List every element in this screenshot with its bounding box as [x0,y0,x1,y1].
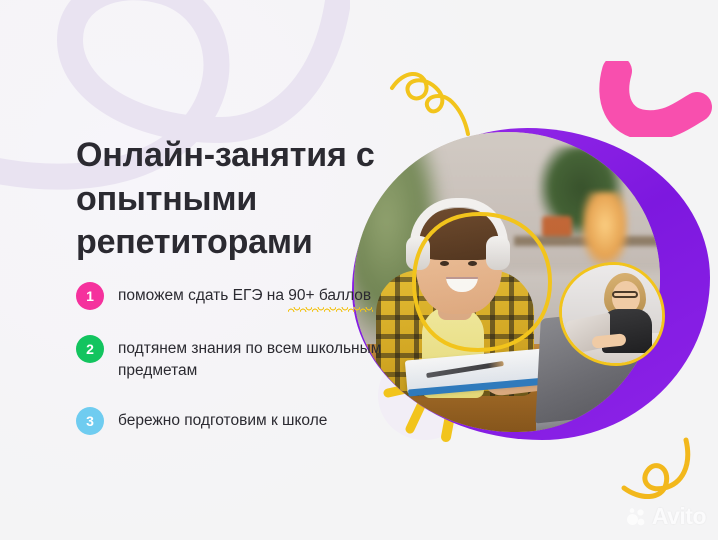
pink-crescent-decoration [597,61,713,137]
feature-text-2: подтянем знания по всем школьным предмет… [118,335,386,382]
page-title: Онлайн-занятия с опытными репетиторами [76,134,376,265]
list-item: 2 подтянем знания по всем школьным предм… [76,335,386,382]
feature-text-1-highlight: 90+ баллов [288,285,371,307]
feature-badge-2: 2 [76,335,104,363]
feature-text-1-prefix: поможем сдать ЕГЭ на [118,287,288,304]
promo-banner: Онлайн-занятия с опытными репетиторами 1… [0,0,718,540]
yellow-squiggle-bottom-decoration [608,432,708,512]
list-item: 1 поможем сдать ЕГЭ на 90+ баллов [76,282,386,310]
feature-badge-1: 1 [76,282,104,310]
inset-tutor-photo [559,262,665,366]
feature-text-1: поможем сдать ЕГЭ на 90+ баллов [118,282,371,307]
feature-badge-3: 3 [76,407,104,435]
feature-text-3: бережно подготовим к школе [118,407,327,432]
avito-watermark: Avito [626,503,706,530]
feature-list: 1 поможем сдать ЕГЭ на 90+ баллов 2 подт… [76,282,386,435]
list-item: 3 бережно подготовим к школе [76,407,386,435]
inset-clip [559,262,665,366]
avito-watermark-text: Avito [652,503,706,530]
avito-dots-icon [626,506,648,528]
